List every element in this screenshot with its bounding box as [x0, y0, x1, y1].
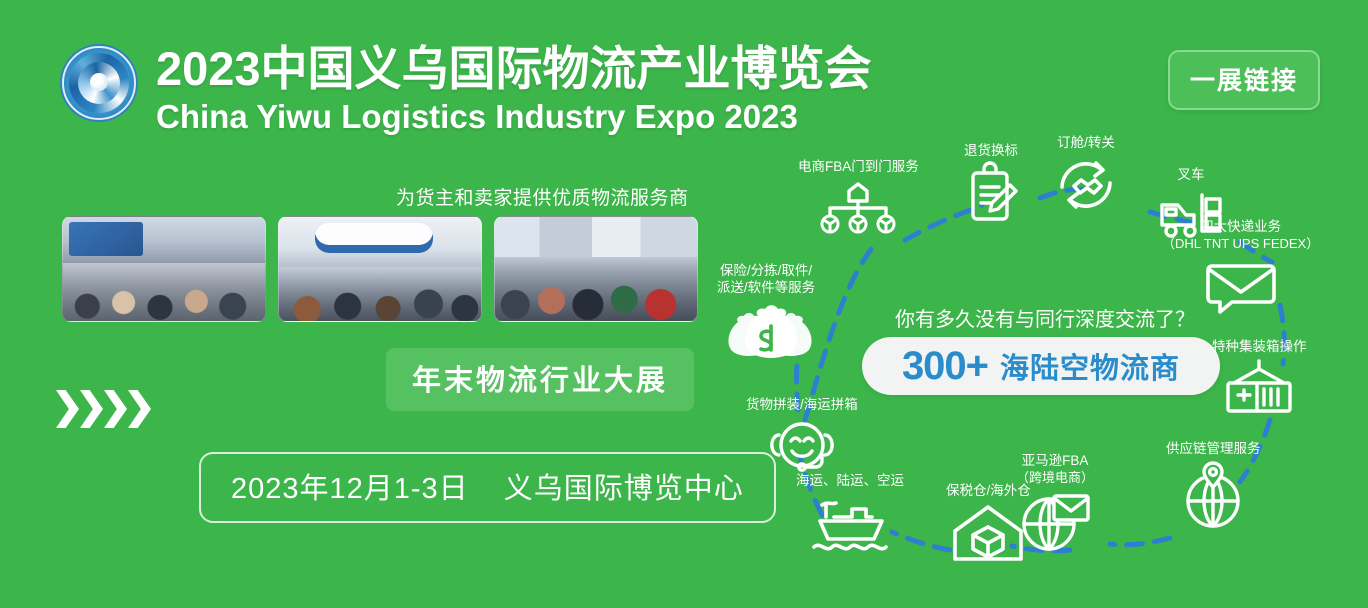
cargo-ship-icon [804, 491, 896, 559]
chevron-right-icon [128, 390, 151, 428]
flow-label-express-line2: （DHL TNT UPS FEDEX） [1162, 235, 1319, 252]
headset-support-icon [765, 415, 839, 481]
flow-label-return-label: 退货换标 [958, 142, 1024, 159]
chevron-right-icon [104, 390, 127, 428]
distribution-network-icon [812, 177, 904, 235]
flow-label-insurance-line1: 保险/分拣/取件/ [716, 262, 816, 279]
event-photo-2 [278, 216, 482, 322]
chevron-right-icon [56, 390, 79, 428]
flow-label-consolidation: 货物拼装/海运拼箱 [746, 396, 858, 413]
flow-node-supply-chain: 供应链管理服务 [1166, 440, 1261, 531]
tagline: 为货主和卖家提供优质物流服务商 [396, 183, 689, 210]
event-photo-1 [62, 216, 266, 322]
shipping-container-icon [1216, 357, 1302, 419]
flow-node-express: 四大快递业务 （DHL TNT UPS FEDEX） [1162, 218, 1319, 316]
flow-label-fba-door: 电商FBA门到门服务 [798, 158, 919, 175]
flow-label-express-line1: 四大快递业务 [1162, 218, 1319, 235]
link-badge[interactable]: 一展链接 [1168, 50, 1320, 110]
flow-node-booking: 订舱/转关 [1050, 134, 1122, 215]
photo-gallery [62, 216, 698, 322]
flow-label-bonded: 保税仓/海外仓 [946, 482, 1031, 499]
warehouse-box-icon [947, 501, 1029, 567]
flow-node-bonded: 保税仓/海外仓 [946, 482, 1031, 567]
handshake-cycle-icon [1050, 153, 1122, 215]
promo-banner: 2023中国义乌国际物流产业博览会 China Yiwu Logistics I… [0, 0, 1368, 608]
globe-pin-icon [1175, 459, 1251, 531]
flow-label-container: 特种集装箱操作 [1212, 338, 1307, 355]
flow-node-insurance: 保险/分拣/取件/ 派送/软件等服务 [716, 262, 816, 370]
money-bags-icon [716, 298, 816, 370]
event-photo-3 [494, 216, 698, 322]
event-date: 2023年12月1-3日 [231, 473, 469, 505]
flow-node-container: 特种集装箱操作 [1212, 338, 1307, 419]
flow-label-supply-chain: 供应链管理服务 [1166, 440, 1261, 457]
chevron-arrows [56, 390, 151, 428]
subbanner-label: 年末物流行业大展 [386, 348, 694, 411]
logistics-flow-diagram: 电商FBA门到门服务 退货换标 [700, 120, 1368, 608]
expo-logo-icon [60, 44, 138, 122]
flow-node-consolidation: 货物拼装/海运拼箱 [746, 396, 858, 481]
page-title-cn: 2023中国义乌国际物流产业博览会 [156, 42, 872, 96]
flow-label-amazon-line1: 亚马逊FBA [1016, 452, 1094, 469]
chevron-right-icon [80, 390, 103, 428]
flow-node-transport: 海运、陆运、空运 [796, 472, 904, 559]
flow-label-insurance-line2: 派送/软件等服务 [716, 279, 816, 296]
flow-label-forklift: 叉车 [1152, 166, 1230, 183]
flow-node-fba-door: 电商FBA门到门服务 [798, 158, 919, 235]
date-venue-box: 2023年12月1-3日 义乌国际博览中心 [199, 452, 776, 523]
flow-node-return-label: 退货换标 [958, 142, 1024, 227]
envelope-icon [1198, 254, 1284, 316]
flow-label-booking: 订舱/转关 [1050, 134, 1122, 151]
connector-supply-amazon [1110, 538, 1170, 545]
clipboard-pencil-icon [958, 161, 1024, 227]
